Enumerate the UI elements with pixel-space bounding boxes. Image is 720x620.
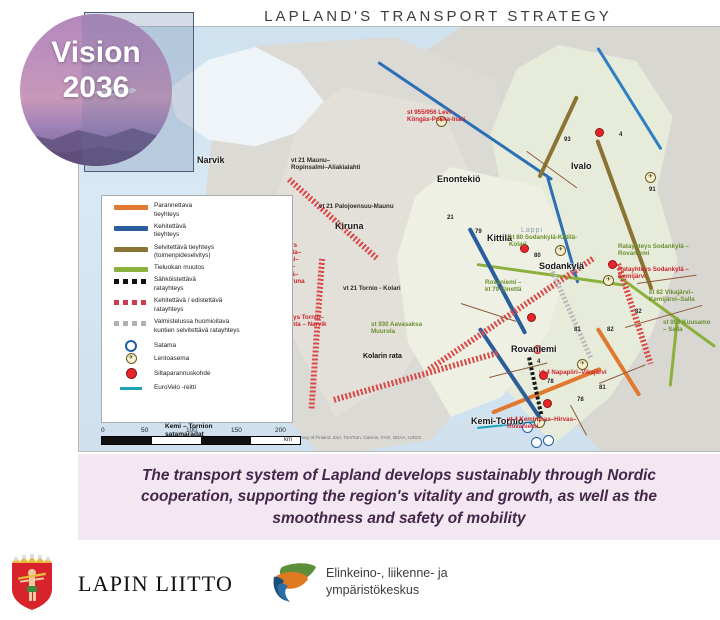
- ely-keskus-text: Elinkeino-, liikenne- ja ympäristökeskus: [326, 565, 448, 598]
- legend-swatch-dashed-icon: [108, 318, 154, 326]
- bridge-point-icon: [543, 399, 552, 408]
- road-number-label: 82: [607, 327, 614, 334]
- map-annotation: Rovaniemi – kt 79 Sinettä: [485, 279, 521, 293]
- legend-item: ✈ Lentoasema: [108, 353, 286, 364]
- road-number-label: 4: [619, 132, 622, 139]
- legend-item: Sähköistettävä ratayhteys: [108, 276, 286, 293]
- legend-item: Kehitettävä / edistettävä ratayhteys: [108, 297, 286, 314]
- bridge-point-icon: [595, 128, 604, 137]
- road-number-label: 81: [599, 385, 606, 392]
- map-annotation: vt 4 Keminmaa–Hirvas– Rovaniemi: [507, 416, 576, 430]
- map-annotation: Ratayhteys Sodankylä – Kemijärvi: [618, 266, 689, 280]
- map-city-label: Enontekiö: [437, 174, 481, 184]
- legend-item: Parannettava tieyhteys: [108, 202, 286, 219]
- legend-swatch-solid-icon: [108, 244, 154, 252]
- map-annotation: Kemi – Tornion satamaradat: [165, 423, 213, 438]
- legend-label: Selvitettävä tieyhteys (toimenpideselvit…: [154, 244, 214, 261]
- ely-line-2: ympäristökeskus: [326, 582, 448, 599]
- legend-item: Valmistelussa huomioitava kuntien selvit…: [108, 318, 286, 335]
- map-city-label: Kiruna: [335, 221, 364, 231]
- road-number-label: 78: [577, 397, 584, 404]
- map-city-label: Ivalo: [571, 161, 592, 171]
- ely-keskus-logo-icon: [268, 561, 320, 603]
- airport-icon: ✈: [108, 353, 154, 364]
- road-number-label: 21: [447, 215, 454, 222]
- map-annotation: vt 21 Tornio - Kolari: [343, 285, 401, 292]
- map-city-label: Sodankylä: [539, 261, 584, 271]
- statement-banner: The transport system of Lapland develops…: [78, 454, 720, 540]
- legend-swatch-dashed-icon: [108, 276, 154, 284]
- scale-tick: 150: [231, 427, 242, 434]
- airport-icon: ✈: [645, 172, 656, 183]
- legend-item: Siltaparannuskohde: [108, 368, 286, 379]
- port-circle-icon: [531, 437, 542, 448]
- bridge-point-icon: [527, 313, 536, 322]
- map-annotation: st 930 Aavasaksa Muurola: [371, 321, 422, 335]
- map-annotation: vt 21 Maunu– Ropinsalmi–Aliakialahti: [291, 157, 360, 171]
- map-annotation: st 955/956 Levi- Köngäs-Pokka-Inari: [407, 109, 465, 123]
- map-annotation: kt 80 Sodankylä-Kittilä- Kolari: [509, 234, 577, 248]
- legend-swatch-solid-icon: [108, 202, 154, 210]
- scale-tick: 50: [141, 427, 148, 434]
- vision-badge: Vision 2036: [20, 14, 172, 166]
- scale-unit: km: [284, 437, 292, 443]
- legend-label: Parannettava tieyhteys: [154, 202, 192, 219]
- footer: LAPIN LIITTO Elinkeino-, liikenne- ja ym…: [0, 545, 720, 620]
- road-number-label: 78: [547, 379, 554, 386]
- port-circle-icon: [108, 340, 154, 352]
- road-number-label: 81: [574, 327, 581, 334]
- statement-text: The transport system of Lapland develops…: [97, 465, 701, 529]
- scale-tick: 200: [275, 427, 286, 434]
- ely-line-1: Elinkeino-, liikenne- ja: [326, 565, 448, 582]
- legend-label: Kehitettävä / edistettävä ratayhteys: [154, 297, 222, 314]
- map-annotation: vt 4 Napapiiri–Vikajärvi: [539, 369, 607, 376]
- scale-tick: 0: [101, 427, 105, 434]
- vision-text: Vision 2036: [20, 36, 172, 106]
- legend-item: Tieluokan muutos: [108, 264, 286, 273]
- lapin-liitto-wordmark: LAPIN LIITTO: [78, 571, 233, 597]
- map-legend: Parannettava tieyhteys Kehitettävä tieyh…: [101, 195, 293, 423]
- lapland-coat-of-arms-icon: [8, 553, 56, 611]
- legend-label: Valmistelussa huomioitava kuntien selvit…: [154, 318, 240, 335]
- road-number-label: 82: [635, 309, 642, 316]
- legend-swatch-dashed-icon: [108, 297, 154, 305]
- red-dot-icon: [108, 368, 154, 379]
- port-circle-icon: [543, 435, 554, 446]
- vision-line-2: 2036: [20, 71, 172, 106]
- legend-swatch-solid-icon: [108, 223, 154, 231]
- map-annotation: Kolarin rata: [363, 353, 402, 361]
- vision-line-1: Vision: [20, 36, 172, 71]
- legend-label: EuroVelo -reitti: [154, 384, 196, 393]
- road-number-label: 79: [475, 229, 482, 236]
- map-annotation: kt 82 Vikajärvi– Kemijärvi–Salla: [649, 289, 695, 303]
- legend-item: Satama: [108, 340, 286, 352]
- map-annotation: vt 21 Palojoensuu-Maunu: [319, 203, 394, 210]
- legend-label: Lentoasema: [154, 355, 189, 364]
- map-annotation: Ratayhteys Sodankylä – Rovaniemi: [618, 243, 689, 257]
- road-number-label: 93: [564, 137, 571, 144]
- legend-label: Tieluokan muutos: [154, 264, 204, 273]
- eurovelo-line-icon: [108, 387, 154, 390]
- legend-item: Kehitettävä tieyhteys: [108, 223, 286, 240]
- road-number-label: 4: [537, 359, 540, 366]
- legend-item: EuroVelo -reitti: [108, 384, 286, 393]
- legend-label: Kehitettävä tieyhteys: [154, 223, 186, 240]
- legend-label: Sähköistettävä ratayhteys: [154, 276, 196, 293]
- poster-root: LAPLAND'S TRANSPORT STRATEGY: [0, 0, 720, 620]
- legend-label: Siltaparannuskohde: [154, 370, 211, 379]
- airport-icon: ✈: [603, 275, 614, 286]
- road-number-label: 80: [534, 253, 541, 260]
- legend-label: Satama: [154, 342, 176, 351]
- legend-swatch-solid-icon: [108, 264, 154, 272]
- map-city-label: Rovaniemi: [511, 344, 557, 354]
- bridge-point-icon: [608, 260, 617, 269]
- legend-item: Selvitettävä tieyhteys (toimenpideselvit…: [108, 244, 286, 261]
- map-annotation: st 950 Kuusamo – Salla: [663, 319, 710, 333]
- map-city-label: Narvik: [197, 155, 225, 165]
- road-number-label: 91: [649, 187, 656, 194]
